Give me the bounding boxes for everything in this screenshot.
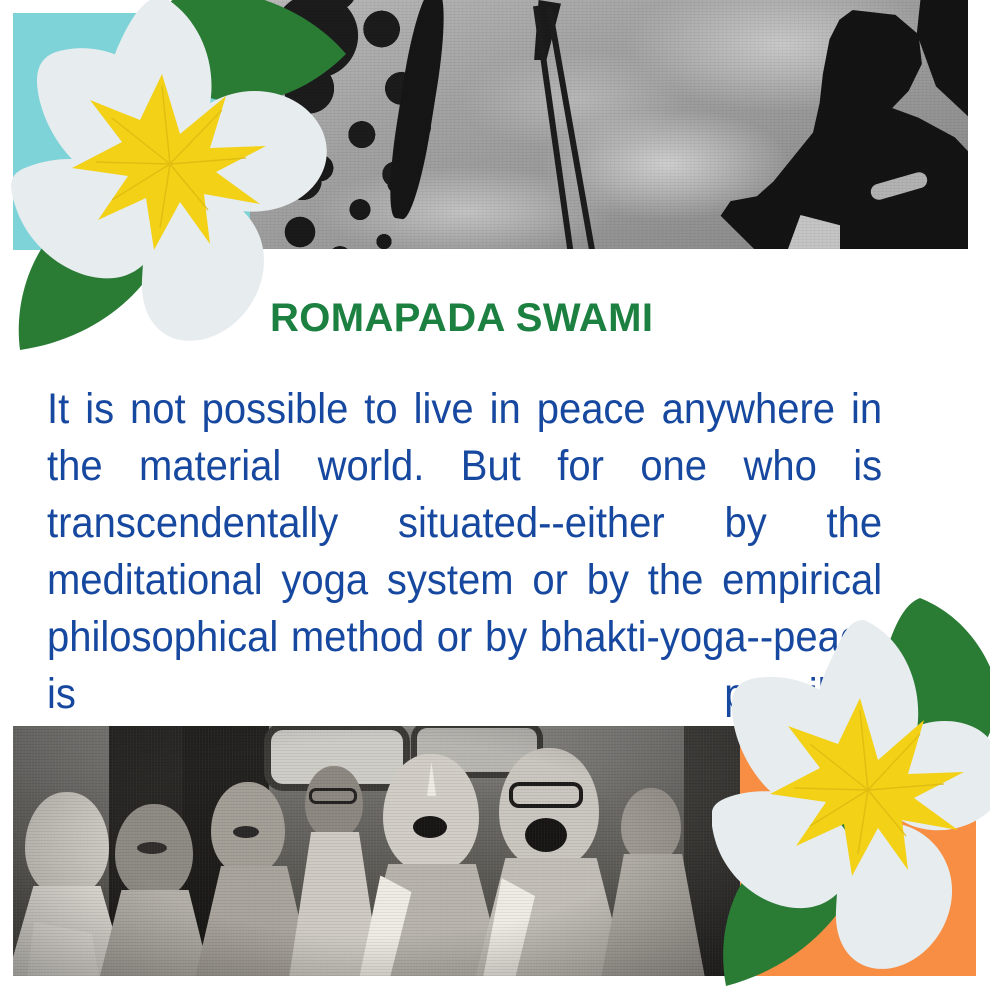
top-photo <box>250 0 968 249</box>
photo-grain-overlay-bottom <box>13 726 740 976</box>
bottom-photo <box>13 726 740 976</box>
quote-poster: ROMAPADA SWAMI It is not possible to liv… <box>0 0 990 990</box>
bottom-right-flower-decoration <box>712 592 990 990</box>
page-title: ROMAPADA SWAMI <box>270 298 653 338</box>
photo-grain-overlay <box>250 0 968 249</box>
